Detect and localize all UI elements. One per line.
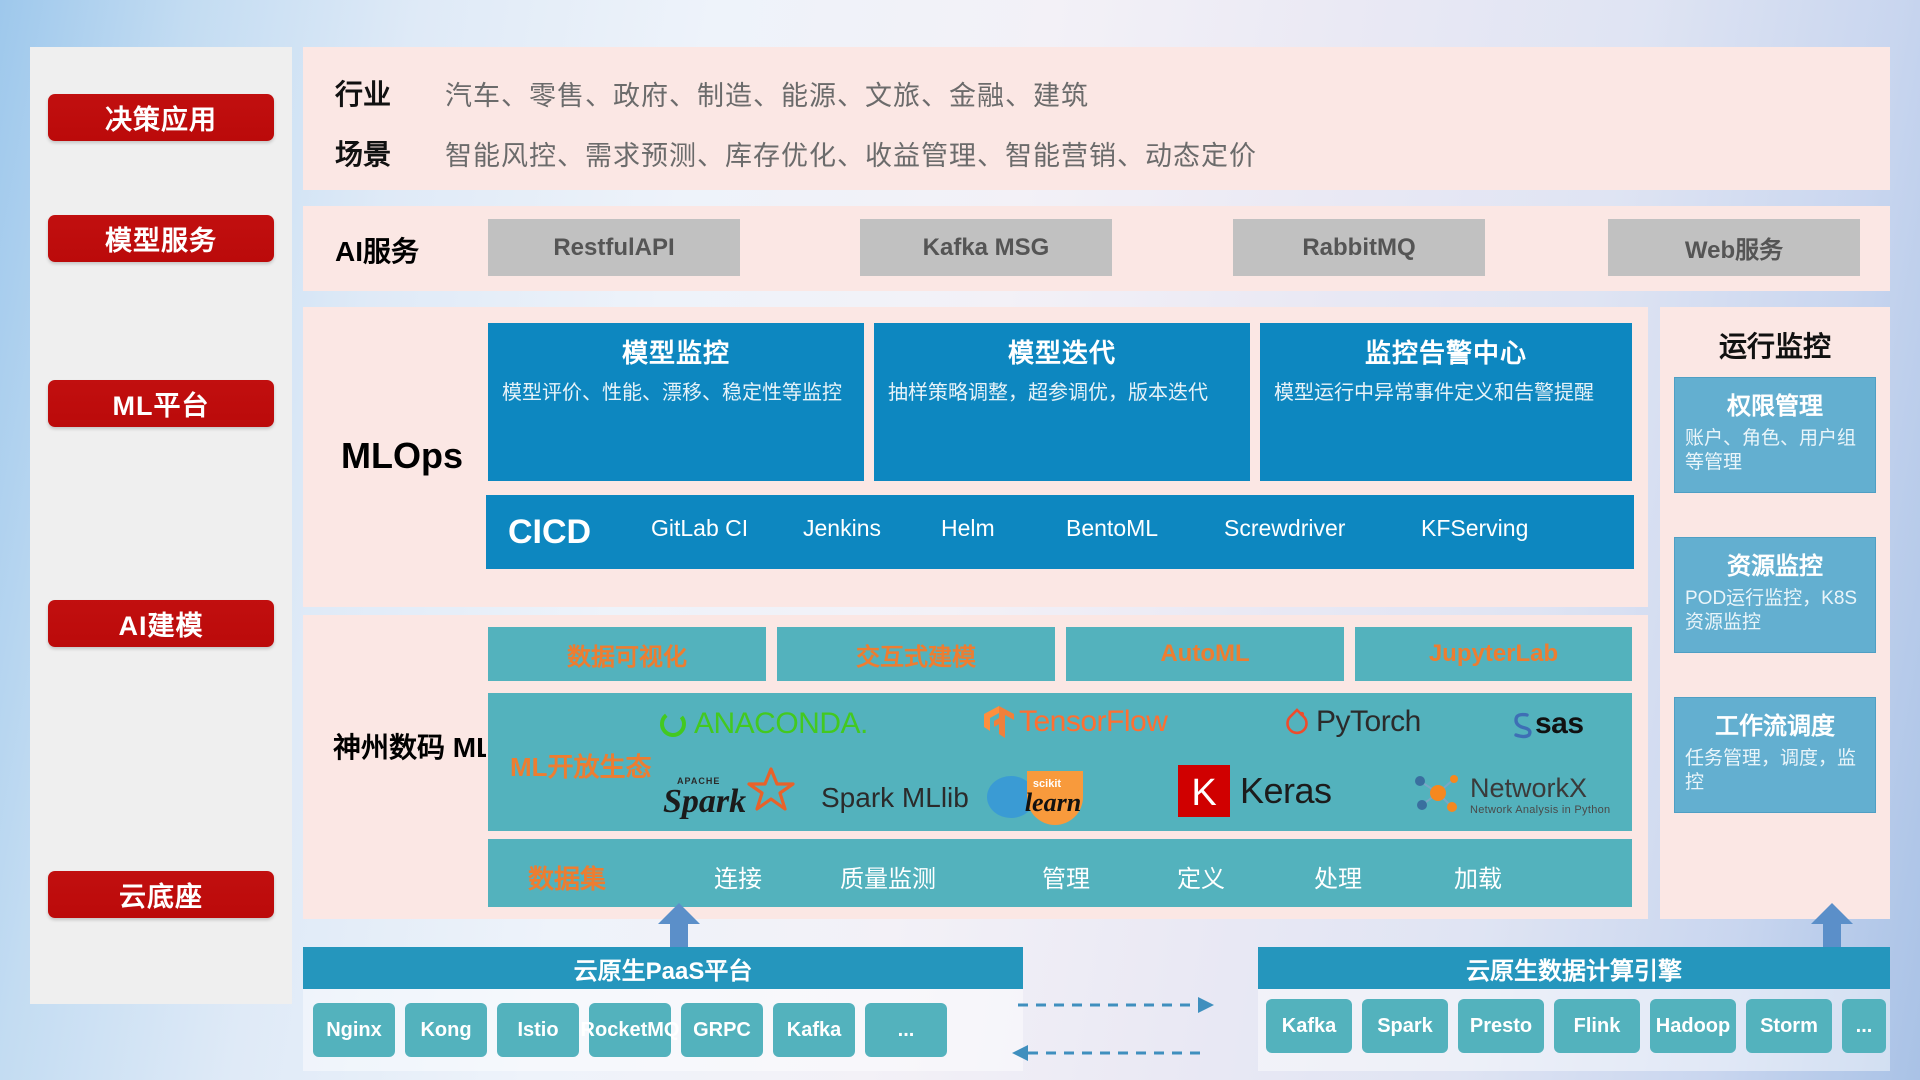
anaconda-logo: ANACONDA.	[658, 707, 868, 741]
mlops-card-alert-center[interactable]: 监控告警中心 模型运行中异常事件定义和告警提醒	[1258, 321, 1634, 483]
mlops-card-model-monitoring[interactable]: 模型监控 模型评价、性能、漂移、稳定性等监控	[486, 321, 866, 483]
tensorflow-icon	[983, 705, 1015, 739]
service-chip-web-service[interactable]: Web服务	[1608, 219, 1860, 276]
card-desc: POD运行监控，K8S资源监控	[1685, 587, 1865, 635]
anaconda-icon	[658, 709, 688, 739]
pytorch-icon	[1283, 706, 1311, 738]
engine-chip-storm[interactable]: Storm	[1746, 999, 1832, 1053]
keras-wordmark: Keras	[1240, 770, 1332, 812]
industry-row-value: 汽车、零售、政府、制造、能源、文旅、金融、建筑	[445, 74, 1089, 113]
networkx-icon	[1408, 771, 1464, 817]
card-desc: 账户、角色、用户组等管理	[1685, 427, 1865, 475]
engine-chip-flink[interactable]: Flink	[1554, 999, 1640, 1053]
dataset-item-load[interactable]: 加载	[1418, 859, 1538, 894]
engine-chip-spark[interactable]: Spark	[1362, 999, 1448, 1053]
anaconda-wordmark: ANACONDA.	[694, 707, 868, 741]
cicd-item-gitlab-ci[interactable]: GitLab CI	[651, 515, 771, 542]
card-desc: 模型运行中异常事件定义和告警提醒	[1274, 380, 1618, 406]
dataset-title: 数据集	[528, 859, 606, 896]
networkx-logo: NetworkX Network Analysis in Python	[1408, 771, 1610, 817]
networkx-tagline: Network Analysis in Python	[1470, 804, 1610, 816]
bidirectional-connector	[958, 991, 1246, 1071]
monitor-card-resource[interactable]: 资源监控 POD运行监控，K8S资源监控	[1674, 537, 1876, 653]
left-rail: 决策应用 模型服务 ML平台 AI建模 云底座	[30, 47, 292, 1004]
svg-text:K: K	[1191, 772, 1216, 814]
cicd-bar: CICD GitLab CI Jenkins Helm BentoML Scre…	[486, 495, 1634, 569]
pytorch-logo: PyTorch	[1283, 705, 1421, 739]
dataset-item-process[interactable]: 处理	[1278, 859, 1398, 894]
up-arrow-data-engine-icon	[1811, 903, 1853, 947]
scenario-row-value: 智能风控、需求预测、库存优化、收益管理、智能营销、动态定价	[445, 134, 1257, 173]
mlops-card-model-iteration[interactable]: 模型迭代 抽样策略调整，超参调优，版本迭代	[872, 321, 1252, 483]
ai-service-label: AI服务	[335, 230, 419, 270]
cloud-chip-rocketmq[interactable]: RocketMQ	[589, 1003, 671, 1057]
data-engine-chip-tray: Kafka Spark Presto Flink Hadoop Storm ..…	[1258, 989, 1890, 1071]
ml-ecosystem-label: ML开放生态	[510, 747, 652, 784]
cloud-chip-kong[interactable]: Kong	[405, 1003, 487, 1057]
card-desc: 任务管理，调度，监控	[1685, 747, 1865, 795]
industry-row-key: 行业	[335, 73, 445, 113]
cloud-chip-nginx[interactable]: Nginx	[313, 1003, 395, 1057]
rail-item-model-service[interactable]: 模型服务	[48, 215, 274, 262]
card-desc: 模型评价、性能、漂移、稳定性等监控	[502, 380, 850, 406]
card-title: 工作流调度	[1685, 706, 1865, 741]
paas-platform-title: 云原生PaaS平台	[303, 947, 1023, 989]
paas-chip-tray: Nginx Kong Istio RocketMQ GRPC Kafka ...	[303, 989, 1023, 1071]
rail-item-decision[interactable]: 决策应用	[48, 94, 274, 141]
sas-wordmark: sas	[1535, 707, 1584, 741]
spark-icon: APACHE Spark	[663, 767, 813, 819]
networkx-wordmark: NetworkX	[1470, 773, 1610, 804]
cicd-item-helm[interactable]: Helm	[941, 515, 1061, 542]
dataset-item-quality[interactable]: 质量监测	[828, 859, 948, 894]
cicd-title: CICD	[508, 513, 591, 552]
tool-chip-data-visualization[interactable]: 数据可视化	[486, 625, 768, 683]
cloud-chip-istio[interactable]: Istio	[497, 1003, 579, 1057]
monitor-card-workflow[interactable]: 工作流调度 任务管理，调度，监控	[1674, 697, 1876, 813]
tool-chip-interactive-modeling[interactable]: 交互式建模	[775, 625, 1057, 683]
card-desc: 抽样策略调整，超参调优，版本迭代	[888, 380, 1236, 406]
cicd-item-screwdriver[interactable]: Screwdriver	[1224, 515, 1344, 542]
service-chip-restfulapi[interactable]: RestfulAPI	[488, 219, 740, 276]
engine-chip-presto[interactable]: Presto	[1458, 999, 1544, 1053]
pytorch-wordmark: PyTorch	[1316, 705, 1421, 739]
dataset-bar: 数据集 连接 质量监测 管理 定义 处理 加载	[486, 837, 1634, 909]
card-title: 模型迭代	[888, 333, 1236, 370]
runtime-monitor-panel: 运行监控 权限管理 账户、角色、用户组等管理 资源监控 POD运行监控，K8S资…	[1660, 307, 1890, 919]
ml-lab-panel: 神州数码 ML LAB 数据可视化 交互式建模 AutoML JupyterLa…	[303, 615, 1648, 919]
tool-chip-automl[interactable]: AutoML	[1064, 625, 1346, 683]
scikit-learn-logo: scikit learn	[985, 763, 1105, 825]
engine-chip-more[interactable]: ...	[1842, 999, 1886, 1053]
industry-panel: 行业 汽车、零售、政府、制造、能源、文旅、金融、建筑 场景 智能风控、需求预测、…	[303, 47, 1890, 190]
cicd-item-bentoml[interactable]: BentoML	[1066, 515, 1186, 542]
cloud-chip-kafka[interactable]: Kafka	[773, 1003, 855, 1057]
keras-logo: K Keras	[1178, 765, 1332, 817]
svg-text:Spark: Spark	[663, 783, 746, 819]
engine-chip-kafka[interactable]: Kafka	[1266, 999, 1352, 1053]
data-engine-title: 云原生数据计算引擎	[1258, 947, 1890, 989]
scenario-row-key: 场景	[335, 133, 445, 173]
ml-ecosystem-box: ML开放生态 ANACONDA. TensorFlow	[486, 691, 1634, 833]
sas-icon	[1508, 709, 1534, 739]
svg-text:learn: learn	[1025, 788, 1081, 817]
architecture-board: 行业 汽车、零售、政府、制造、能源、文旅、金融、建筑 场景 智能风控、需求预测、…	[303, 47, 1890, 1004]
up-arrow-paas-icon	[658, 903, 700, 947]
rail-item-cloud-base[interactable]: 云底座	[48, 871, 274, 918]
sas-logo: sas	[1508, 707, 1584, 741]
cloud-chip-grpc[interactable]: GRPC	[681, 1003, 763, 1057]
ai-service-panel: AI服务 RestfulAPI Kafka MSG RabbitMQ Web服务	[303, 206, 1890, 291]
card-title: 监控告警中心	[1274, 333, 1618, 370]
scikit-learn-icon: scikit learn	[985, 763, 1105, 825]
cicd-item-kfserving[interactable]: KFServing	[1421, 515, 1541, 542]
card-title: 模型监控	[502, 333, 850, 370]
keras-icon: K	[1178, 765, 1230, 817]
card-title: 权限管理	[1685, 386, 1865, 421]
cicd-item-jenkins[interactable]: Jenkins	[803, 515, 923, 542]
dataset-item-define[interactable]: 定义	[1141, 859, 1261, 894]
tool-chip-jupyterlab[interactable]: JupyterLab	[1353, 625, 1634, 683]
service-chip-rabbitmq[interactable]: RabbitMQ	[1233, 219, 1485, 276]
tensorflow-wordmark: TensorFlow	[1019, 705, 1167, 739]
runtime-monitor-title: 运行监控	[1660, 325, 1890, 365]
mlops-label: MLOps	[341, 435, 463, 477]
dataset-item-connect[interactable]: 连接	[678, 859, 798, 894]
tensorflow-logo: TensorFlow	[983, 705, 1167, 739]
engine-chip-hadoop[interactable]: Hadoop	[1650, 999, 1736, 1053]
dataset-item-manage[interactable]: 管理	[1006, 859, 1126, 894]
rail-item-ml-platform[interactable]: ML平台	[48, 380, 274, 427]
monitor-card-permission[interactable]: 权限管理 账户、角色、用户组等管理	[1674, 377, 1876, 493]
mllib-wordmark: Spark MLlib	[821, 782, 969, 814]
mlops-panel: MLOps 模型监控 模型评价、性能、漂移、稳定性等监控 模型迭代 抽样策略调整…	[303, 307, 1648, 607]
card-title: 资源监控	[1685, 546, 1865, 581]
rail-item-ai-modeling[interactable]: AI建模	[48, 600, 274, 647]
service-chip-kafka-msg[interactable]: Kafka MSG	[860, 219, 1112, 276]
spark-mllib-logo: APACHE Spark Spark MLlib	[663, 767, 969, 819]
cloud-chip-more[interactable]: ...	[865, 1003, 947, 1057]
